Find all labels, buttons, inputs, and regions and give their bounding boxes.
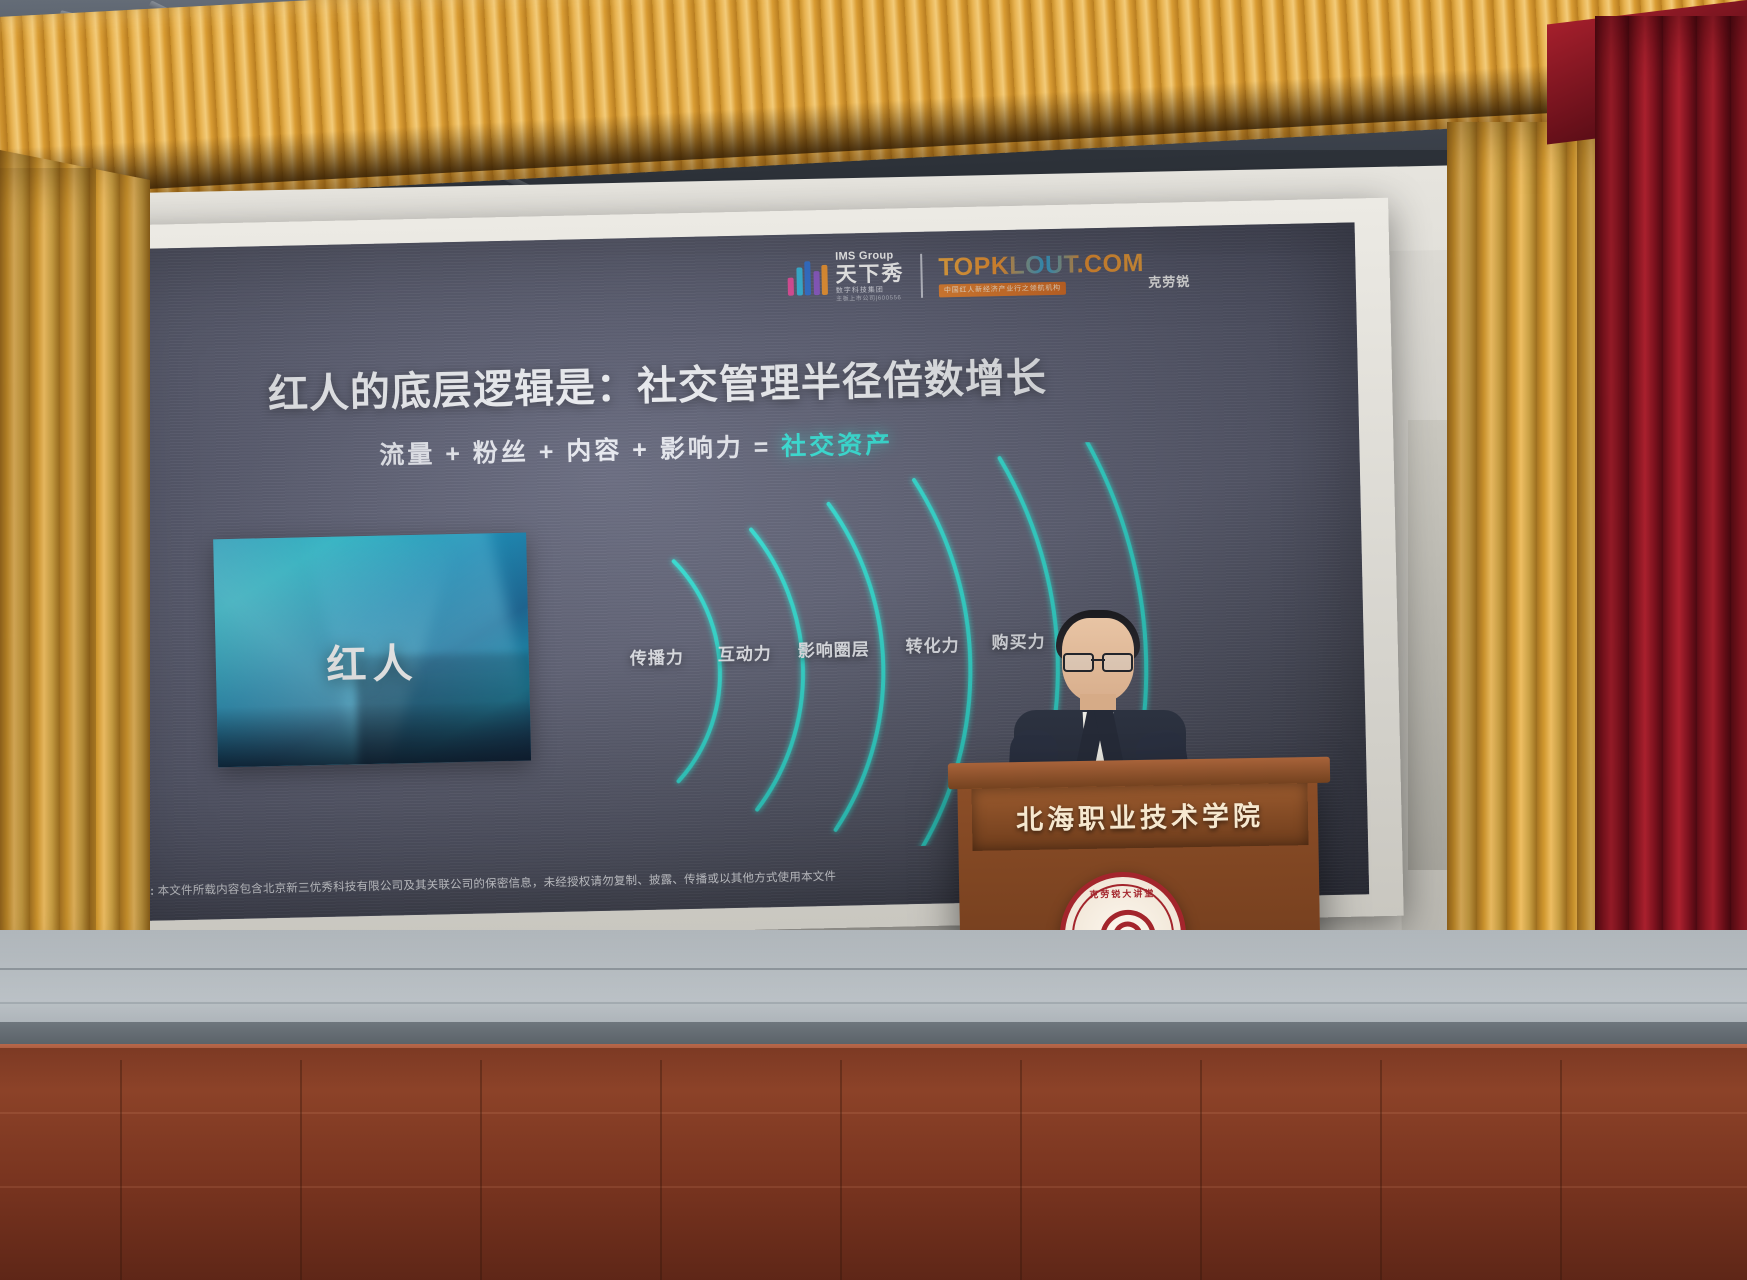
slide-logo-bar: IMS Group 天下秀 数字科技集团 主板上市公司|600556 TOPKL… [787, 244, 1189, 304]
slide-footer-disclaimer: 声明: 本文件所载内容包含北京新三优秀科技有限公司及其关联公司的保密信息，未经授… [127, 868, 837, 899]
ims-bars-icon [787, 260, 828, 295]
slide-title: 红人的底层逻辑是：社交管理半径倍数增长 [267, 345, 1047, 420]
floor-seam [0, 968, 1747, 970]
podium-plaque: 北海职业技术学院 [971, 783, 1308, 851]
ims-group-logo: IMS Group 天下秀 数字科技集团 主板上市公司|600556 [787, 250, 905, 304]
speaker-glasses-icon [1062, 653, 1134, 669]
topklout-title: TOPKLOUT.COM [938, 248, 1144, 281]
arc-label-3: 转化力 [905, 631, 960, 657]
stage-scene: IMS Group 天下秀 数字科技集团 主板上市公司|600556 TOPKL… [0, 0, 1747, 1280]
stage-front-panel [0, 1048, 1747, 1280]
ims-sub-label: 数字科技集团 [836, 286, 905, 295]
topklout-tagline: 中国红人新经济产业行之领航机构 [939, 281, 1066, 297]
podium-school-name: 北海职业技术学院 [972, 793, 1309, 838]
topklout-logo: TOPKLOUT.COM 中国红人新经济产业行之领航机构 克劳锐 [938, 248, 1188, 297]
ims-en-label: IMS Group [835, 250, 904, 263]
influencer-thumbnail: 红人 [213, 533, 531, 768]
topklout-cn-label: 克劳锐 [1148, 270, 1190, 290]
ims-cn-label: 天下秀 [835, 263, 904, 286]
curtain-left-inner [0, 168, 96, 978]
thumbnail-label: 红人 [215, 628, 529, 693]
arc-label-1: 互动力 [717, 639, 772, 665]
footer-body: 本文件所载内容包含北京新三优秀科技有限公司及其关联公司的保密信息，未经授权请勿复… [154, 871, 836, 898]
logo-divider [920, 253, 923, 297]
curtain-red [1595, 16, 1747, 1026]
arc-label-0: 传播力 [630, 643, 685, 669]
ims-listing-label: 主板上市公司|600556 [836, 295, 905, 303]
seal-top-label: 克劳锐大讲堂 [1064, 886, 1180, 901]
floor-seam [0, 1002, 1747, 1004]
arc-label-2: 影响圈层 [797, 635, 870, 662]
